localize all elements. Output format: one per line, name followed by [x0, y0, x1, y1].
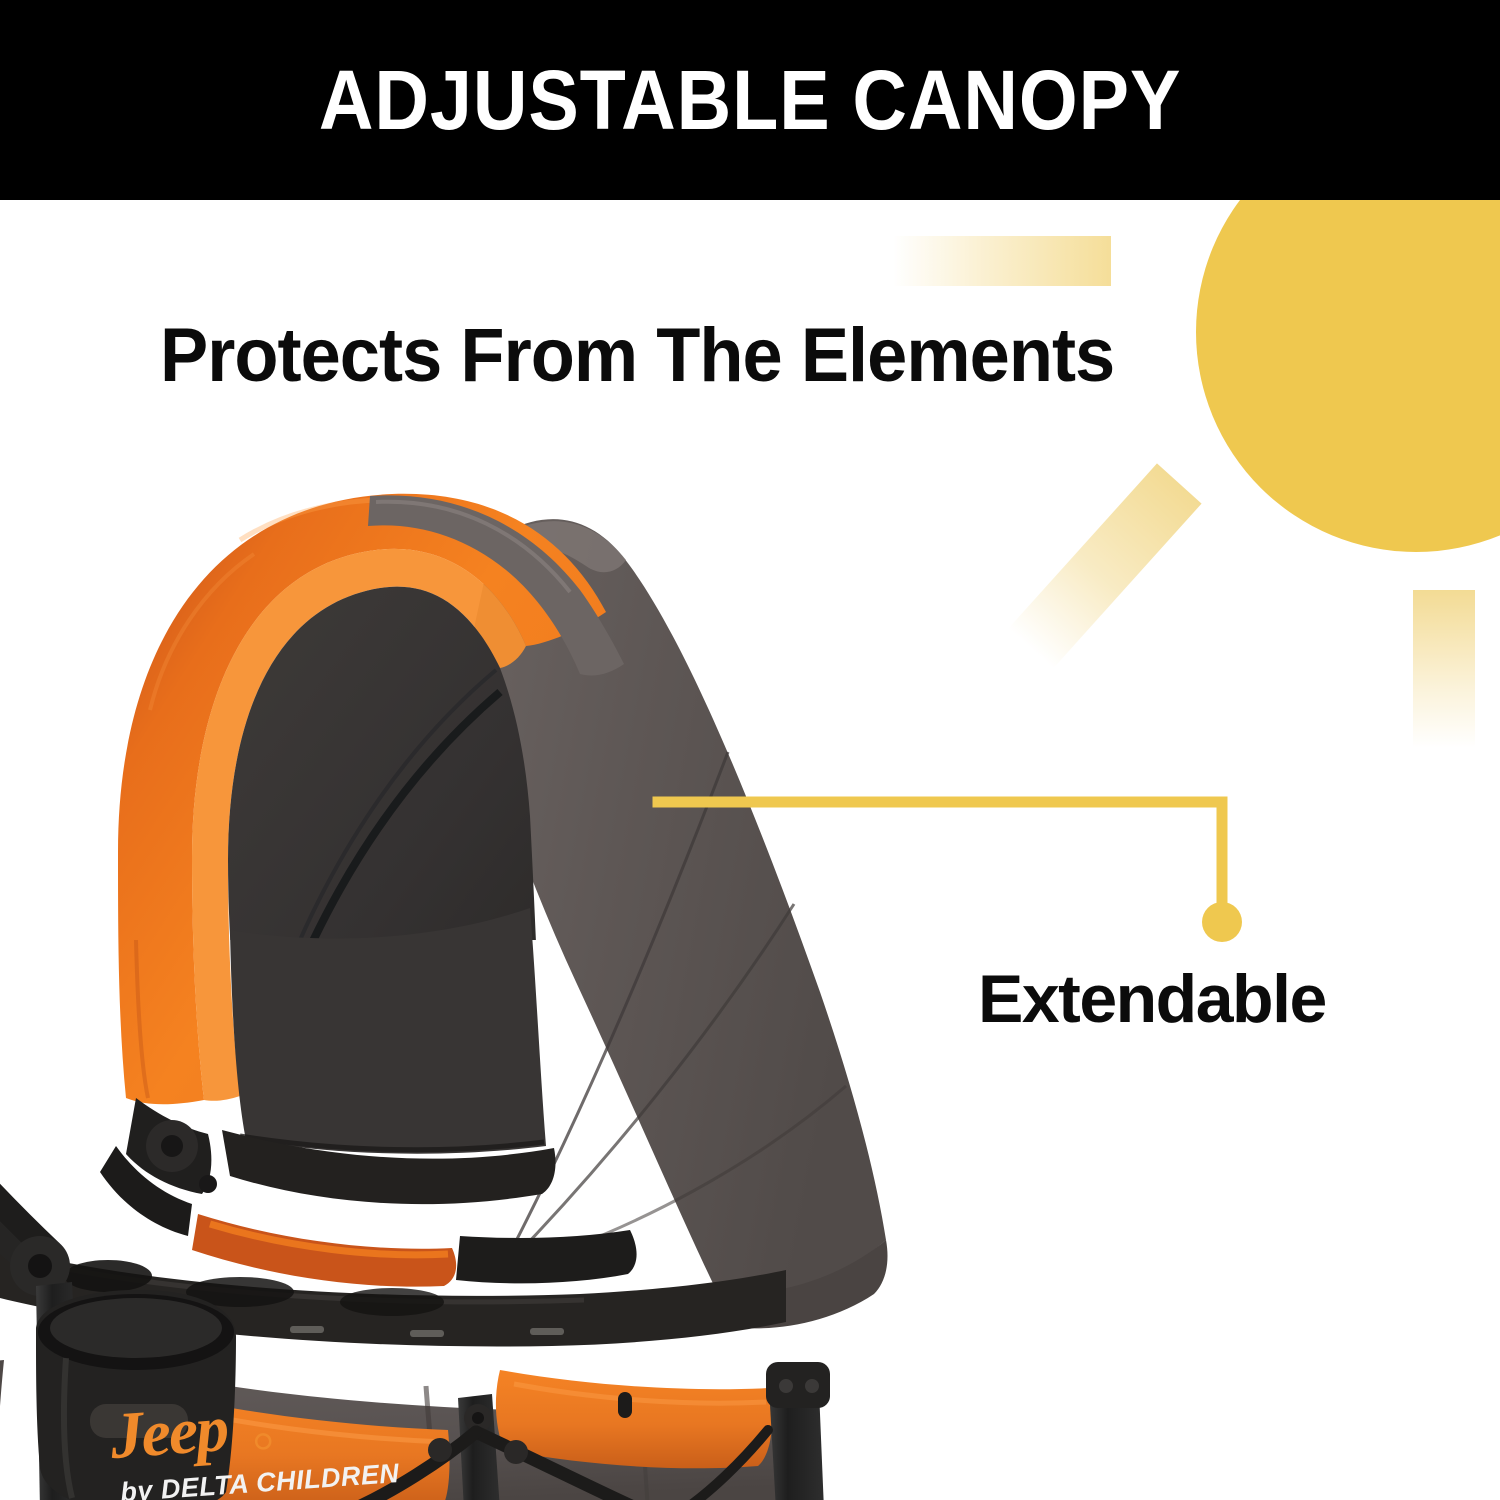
callout-annotation: [0, 200, 1500, 1500]
header-banner: ADJUSTABLE CANOPY: [0, 0, 1500, 200]
content-stage: Protects From The Elements: [0, 200, 1500, 1500]
callout-label: Extendable: [978, 960, 1326, 1038]
callout-dot: [1202, 902, 1242, 942]
banner-title: ADJUSTABLE CANOPY: [319, 58, 1181, 142]
callout-line: [658, 802, 1222, 916]
